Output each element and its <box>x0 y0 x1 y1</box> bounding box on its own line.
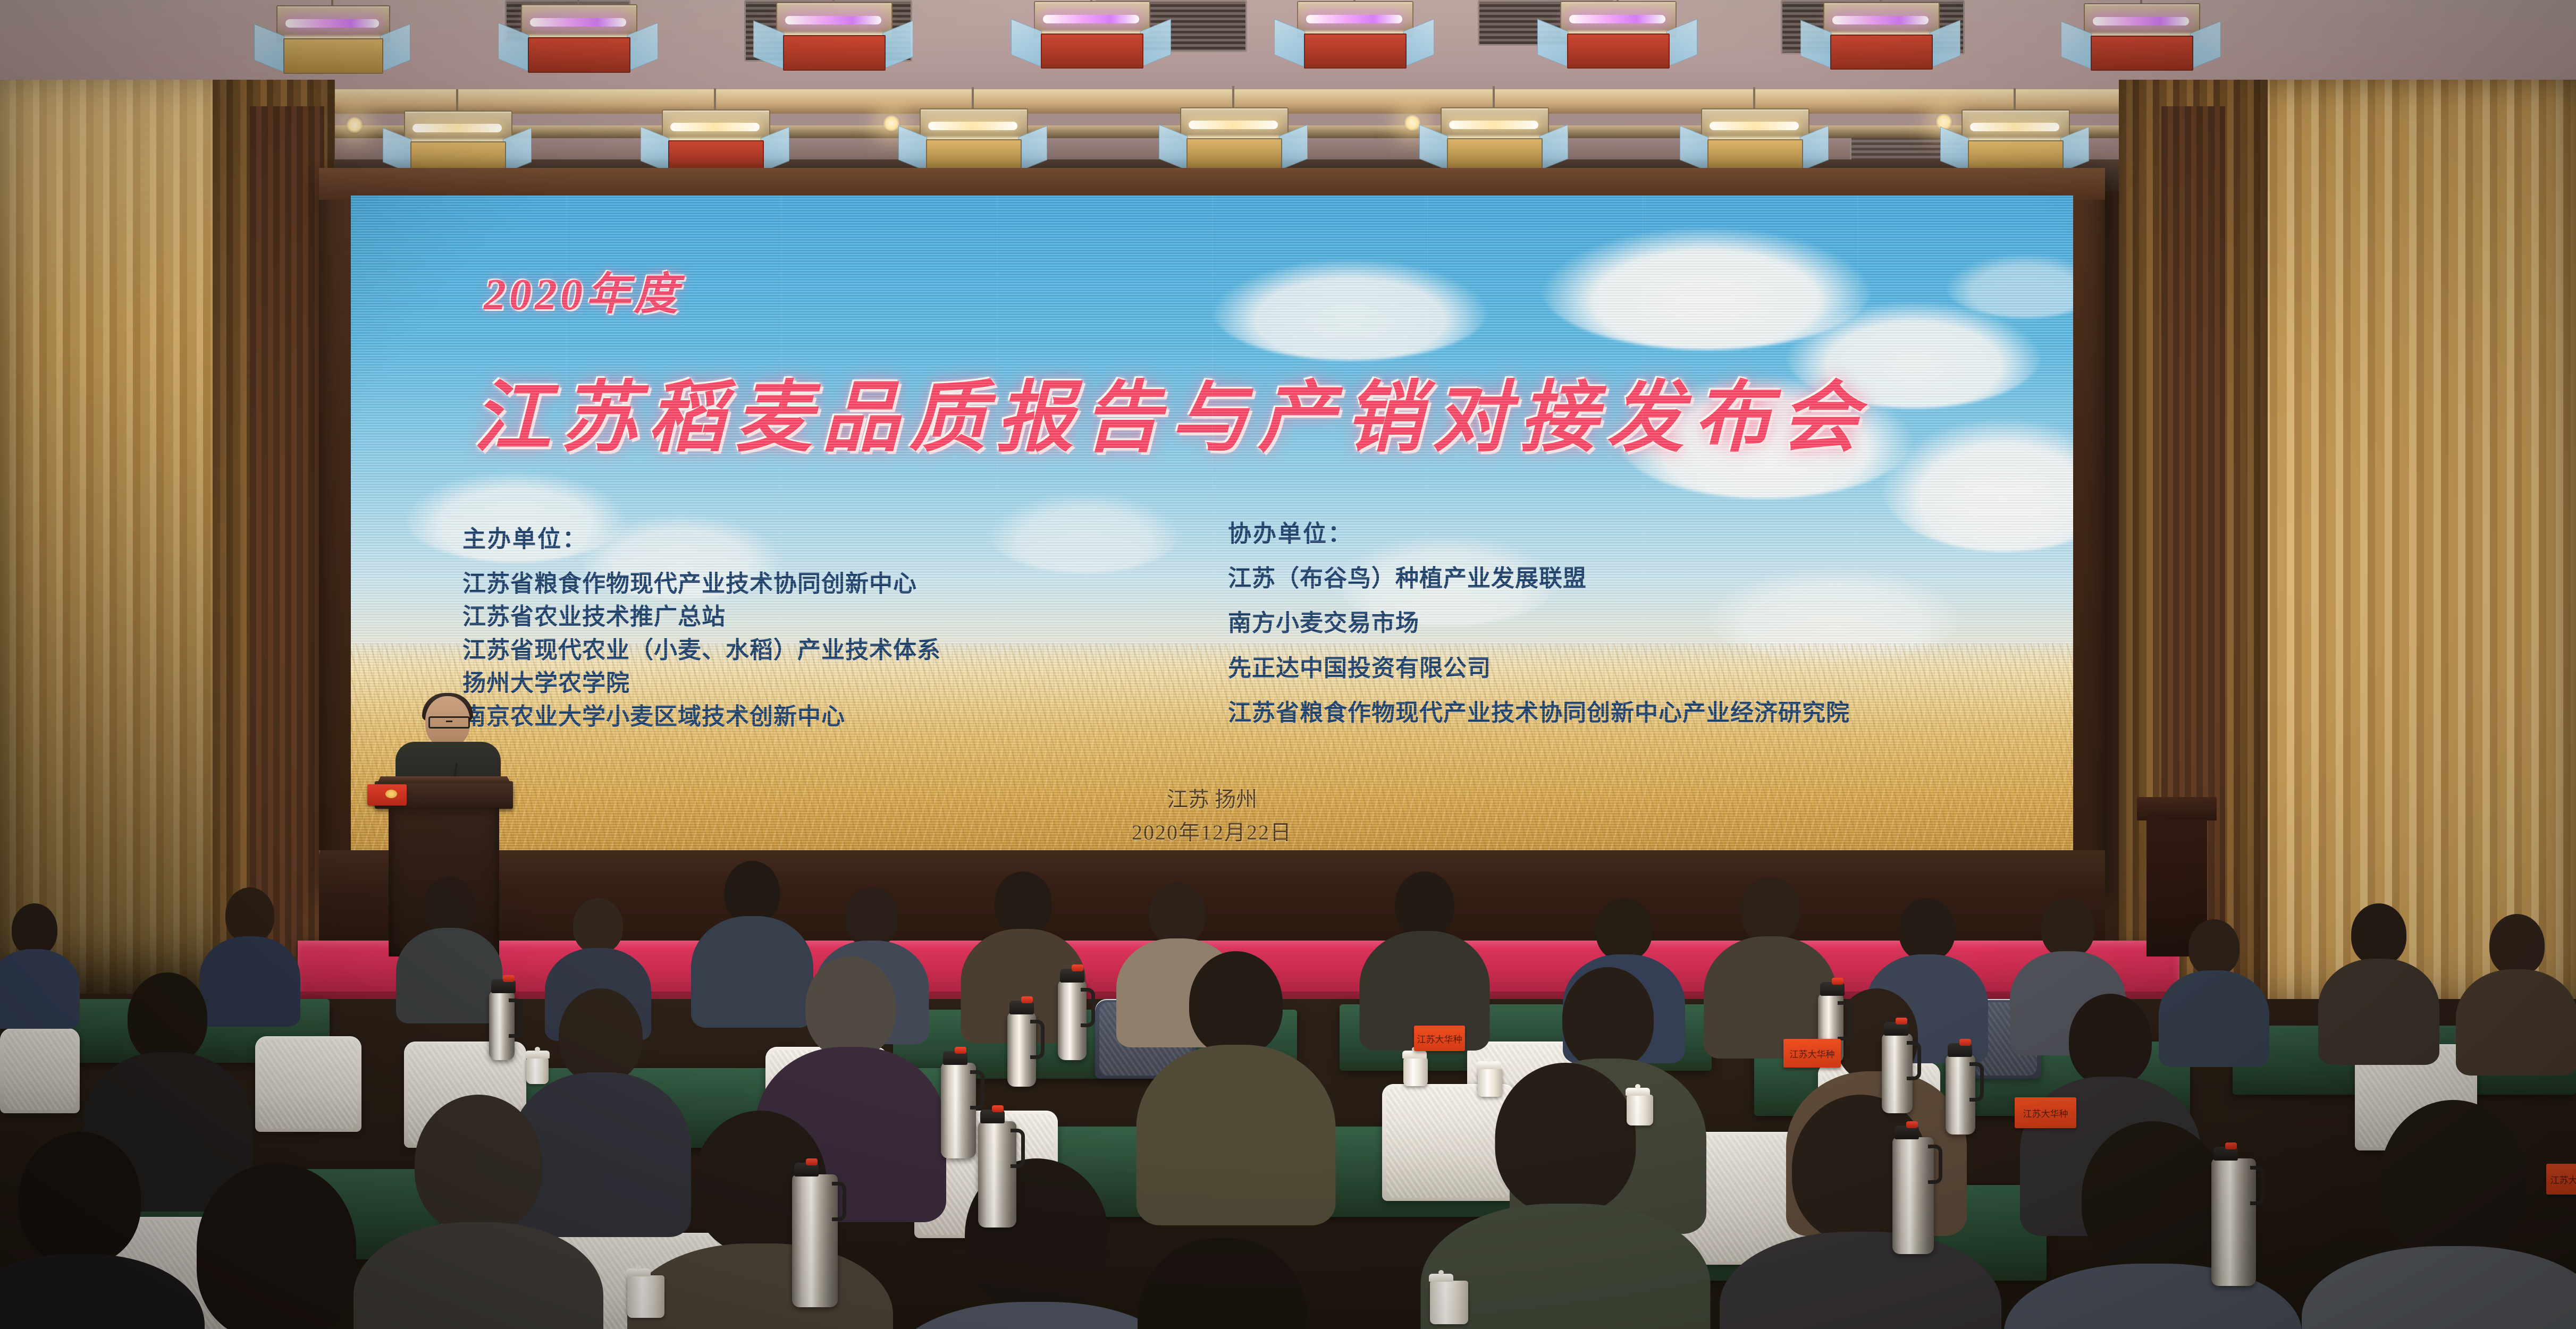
led-display-screen: 2020年度 江苏稻麦品质报告与产销对接发布会 主办单位： 江苏省粮食作物现代产… <box>351 196 2073 854</box>
person-head <box>725 861 780 924</box>
person-head <box>2069 994 2152 1086</box>
venue-date: 2020年12月22日 <box>351 816 2073 849</box>
person-head <box>2188 919 2240 976</box>
lidded-teacup[interactable] <box>627 1275 664 1318</box>
person-torso <box>1720 1232 2001 1329</box>
organizers-heading: 主办单位： <box>462 520 1164 554</box>
person-head <box>12 903 57 955</box>
teacup-lid <box>626 1268 651 1276</box>
lamp-tube <box>285 19 379 28</box>
person-head <box>19 1132 141 1265</box>
audience-member <box>2466 914 2567 1063</box>
thermos-flask[interactable] <box>489 991 515 1060</box>
thermos-flask[interactable] <box>1007 1012 1036 1087</box>
person-head <box>197 1164 356 1329</box>
thermos-flask[interactable] <box>1882 1034 1913 1113</box>
flask-pour-button[interactable] <box>806 1158 818 1165</box>
stage-light-fixture <box>1297 1 1411 64</box>
thermos-flask[interactable] <box>792 1174 838 1307</box>
thermos-flask[interactable] <box>978 1121 1016 1228</box>
lamp-tube <box>413 124 502 132</box>
name-card-text: 江苏大华种 <box>2023 1106 2068 1120</box>
co-organizers-column: 协办单位： 江苏（布谷鸟）种植产业发展联盟 南方小麦交易市场 先正达中国投资有限… <box>1228 514 2057 742</box>
person-head <box>1395 871 1454 937</box>
person-torso <box>2004 1264 2302 1329</box>
flask-pour-button[interactable] <box>2225 1142 2237 1149</box>
name-card-text: 江苏大华种 <box>1790 1047 1835 1060</box>
audience-member <box>1371 871 1478 1036</box>
stage-light-fixture <box>2084 3 2198 66</box>
lidded-teacup[interactable] <box>1430 1281 1468 1324</box>
flask-pour-button[interactable] <box>992 1105 1004 1112</box>
audience-member <box>1744 1095 1977 1329</box>
organizer-item: 江苏省现代农业（小麦、水稻）产业技术体系 <box>462 634 1164 667</box>
lamp-front-panel <box>1830 35 1933 69</box>
flask-handle <box>2250 1166 2264 1205</box>
person-torso <box>2318 959 2439 1065</box>
lamp-hanger <box>1493 86 1495 108</box>
lamp-tube <box>530 18 626 27</box>
audience-member <box>1084 1238 1361 1329</box>
stage-light-fixture <box>404 111 510 170</box>
proscenium-top-band <box>319 168 2105 200</box>
co-organizers-heading: 协办单位： <box>1228 514 2057 548</box>
flask-handle <box>1081 988 1095 1027</box>
person-head <box>1189 951 1283 1055</box>
table-name-card: 江苏大华种 <box>2546 1164 2576 1195</box>
person-head <box>424 877 475 934</box>
thermos-flask[interactable] <box>1892 1137 1934 1254</box>
led-event-title: 江苏稻麦品质报告与产销对接发布会 <box>473 355 1868 467</box>
ceiling-downlight <box>882 114 900 132</box>
person-head <box>128 972 207 1063</box>
lamp-front-panel <box>1186 138 1282 171</box>
lidded-teacup[interactable] <box>526 1057 549 1084</box>
person-head <box>995 871 1052 935</box>
lamp-front-panel <box>283 38 384 73</box>
lamp-tube <box>1569 15 1665 23</box>
audience-member <box>2169 919 2259 1057</box>
led-year-label: 2020年度 <box>484 258 681 323</box>
lidded-teacup[interactable] <box>1478 1068 1502 1097</box>
stage-light-fixture <box>1962 109 2068 169</box>
lamp-tube <box>1832 16 1929 24</box>
speaker-glasses <box>428 716 470 729</box>
person-head <box>805 956 896 1057</box>
flask-handle <box>509 998 523 1038</box>
audience-member <box>372 1095 585 1329</box>
audience-member <box>1159 951 1313 1206</box>
audience-chair <box>255 1036 361 1132</box>
person-head <box>2041 898 2094 958</box>
thermos-flask[interactable] <box>1946 1055 1975 1135</box>
organizers-column: 主办单位： 江苏省粮食作物现代产业技术协同创新中心 江苏省农业技术推广总站 江苏… <box>462 520 1164 733</box>
organizer-item: 扬州大学农学院 <box>462 667 1164 700</box>
stage-light-fixture <box>776 2 890 66</box>
lamp-hanger <box>972 87 974 109</box>
organizer-item: 江苏省农业技术推广总站 <box>462 600 1164 633</box>
stage-light-fixture <box>276 5 388 69</box>
person-head <box>2380 1100 2527 1257</box>
person-torso <box>0 949 80 1029</box>
stage-light-fixture <box>1180 107 1286 167</box>
cloud <box>1212 259 1488 360</box>
lamp-hanger <box>1753 87 1755 109</box>
teacup-lid <box>1429 1274 1453 1282</box>
person-head <box>1149 882 1206 945</box>
teacup-lid <box>1402 1051 1427 1059</box>
organizer-item: 南京农业大学小麦区域技术创新中心 <box>462 700 1164 733</box>
lamp-front-panel <box>528 37 630 72</box>
left-stage-curtain <box>250 106 324 956</box>
lamp-front-panel <box>2091 36 2193 70</box>
teacup-lid <box>1477 1061 1501 1069</box>
thermos-flask[interactable] <box>2211 1158 2256 1286</box>
lamp-tube <box>1710 122 1799 130</box>
stage-light-fixture <box>1560 1 1674 64</box>
lamp-tube <box>1043 15 1139 23</box>
lidded-teacup[interactable] <box>1403 1057 1428 1086</box>
teacup-lid <box>1626 1088 1650 1096</box>
flask-pour-button[interactable] <box>1832 978 1843 985</box>
lamp-tube <box>1970 123 2059 131</box>
thermos-flask[interactable] <box>1058 980 1087 1060</box>
person-head <box>2489 914 2545 976</box>
stage-light-fixture <box>1034 1 1148 64</box>
lamp-front-panel <box>1567 33 1670 68</box>
flask-pour-button[interactable] <box>1896 1018 1907 1025</box>
audience-member <box>0 903 74 1026</box>
side-podium-top <box>2137 797 2217 820</box>
person-head <box>1899 898 1955 961</box>
conference-hall-photo: 2020年度 江苏稻麦品质报告与产销对接发布会 主办单位： 江苏省粮食作物现代产… <box>0 0 2576 1329</box>
person-head <box>559 988 643 1083</box>
lamp-hanger <box>456 89 458 112</box>
co-organizer-item: 南方小麦交易市场 <box>1228 607 2057 640</box>
co-organizer-item: 先正达中国投资有限公司 <box>1228 652 2057 685</box>
flask-handle <box>970 1070 984 1110</box>
stage-light-fixture <box>1441 107 1547 167</box>
table-name-card: 江苏大华种 <box>2015 1097 2076 1128</box>
person-head <box>1495 1063 1636 1214</box>
lamp-front-panel <box>1447 138 1543 171</box>
person-torso <box>2456 969 2576 1076</box>
person-head <box>1562 967 1654 1069</box>
person-head <box>2082 1121 2224 1274</box>
audience-member <box>404 877 494 1015</box>
flask-pour-button[interactable] <box>955 1047 966 1054</box>
co-organizer-item: 江苏（布谷鸟）种植产业发展联盟 <box>1228 562 2057 595</box>
venue-block: 江苏 扬州 2020年12月22日 <box>351 783 2073 849</box>
lamp-front-panel <box>1041 33 1143 68</box>
name-card-text: 江苏大华种 <box>1417 1032 1462 1045</box>
lamp-tube <box>1189 121 1278 129</box>
flask-pour-button[interactable] <box>1072 964 1083 971</box>
person-head <box>1740 877 1800 943</box>
person-torso <box>396 928 502 1023</box>
lidded-teacup[interactable] <box>1627 1095 1653 1125</box>
person-torso <box>353 1222 603 1329</box>
venue-location: 江苏 扬州 <box>351 783 2073 816</box>
lamp-front-panel <box>1304 33 1407 68</box>
organizer-item: 江苏省粮食作物现代产业技术协同创新中心 <box>462 568 1164 600</box>
lamp-tube <box>1449 121 1538 129</box>
stage-light-fixture <box>521 4 635 68</box>
flask-handle <box>1907 1041 1921 1080</box>
flask-handle <box>1928 1145 1942 1184</box>
person-head <box>1138 1238 1308 1329</box>
person-head <box>845 887 898 947</box>
lamp-tube <box>785 16 881 24</box>
lamp-hanger <box>714 88 716 111</box>
flask-handle <box>1011 1129 1025 1168</box>
lamp-tube <box>928 122 1017 130</box>
lamp-hanger <box>1232 86 1234 108</box>
audience-chair <box>0 1028 80 1113</box>
flask-pour-button[interactable] <box>1959 1039 1971 1046</box>
name-card-text: 江苏大华种 <box>2550 1173 2576 1186</box>
person-head <box>573 898 623 953</box>
lamp-tube <box>1306 15 1402 23</box>
table-name-card: 江苏大华种 <box>1783 1039 1841 1068</box>
flask-pour-button[interactable] <box>1021 996 1033 1003</box>
person-torso <box>2302 1246 2576 1329</box>
stage-light-fixture <box>920 108 1026 168</box>
person-head <box>225 887 274 943</box>
audience-member <box>2328 1100 2576 1329</box>
flask-handle <box>1838 1001 1852 1040</box>
person-head <box>1596 898 1652 961</box>
flask-handle <box>1969 1062 1984 1102</box>
lamp-hanger <box>2014 88 2016 111</box>
thermos-flask[interactable] <box>941 1063 976 1158</box>
person-head <box>2351 903 2406 965</box>
audience-member <box>2328 903 2429 1052</box>
stage-light-fixture <box>1823 2 1938 65</box>
flask-handle <box>832 1182 846 1221</box>
stage-light-fixture <box>662 109 768 169</box>
flask-pour-button[interactable] <box>1906 1121 1918 1128</box>
lamp-tube <box>2093 17 2189 26</box>
table-name-card: 江苏大华种 <box>1414 1026 1465 1051</box>
lamp-tube <box>670 123 760 131</box>
flask-handle <box>1030 1020 1045 1059</box>
flask-pour-button[interactable] <box>503 975 515 982</box>
stage-light-fixture <box>1701 108 1807 168</box>
teacup-lid <box>525 1051 550 1059</box>
ceiling-downlight <box>1403 114 1421 132</box>
audience-member <box>0 1132 181 1329</box>
podium-plaque <box>367 784 407 806</box>
co-organizer-item: 江苏省粮食作物现代产业技术协同创新中心产业经济研究院 <box>1228 697 2057 730</box>
person-torso <box>1137 1045 1336 1225</box>
person-head <box>415 1095 542 1233</box>
ceiling-downlight <box>346 116 364 134</box>
lamp-front-panel <box>783 35 886 70</box>
